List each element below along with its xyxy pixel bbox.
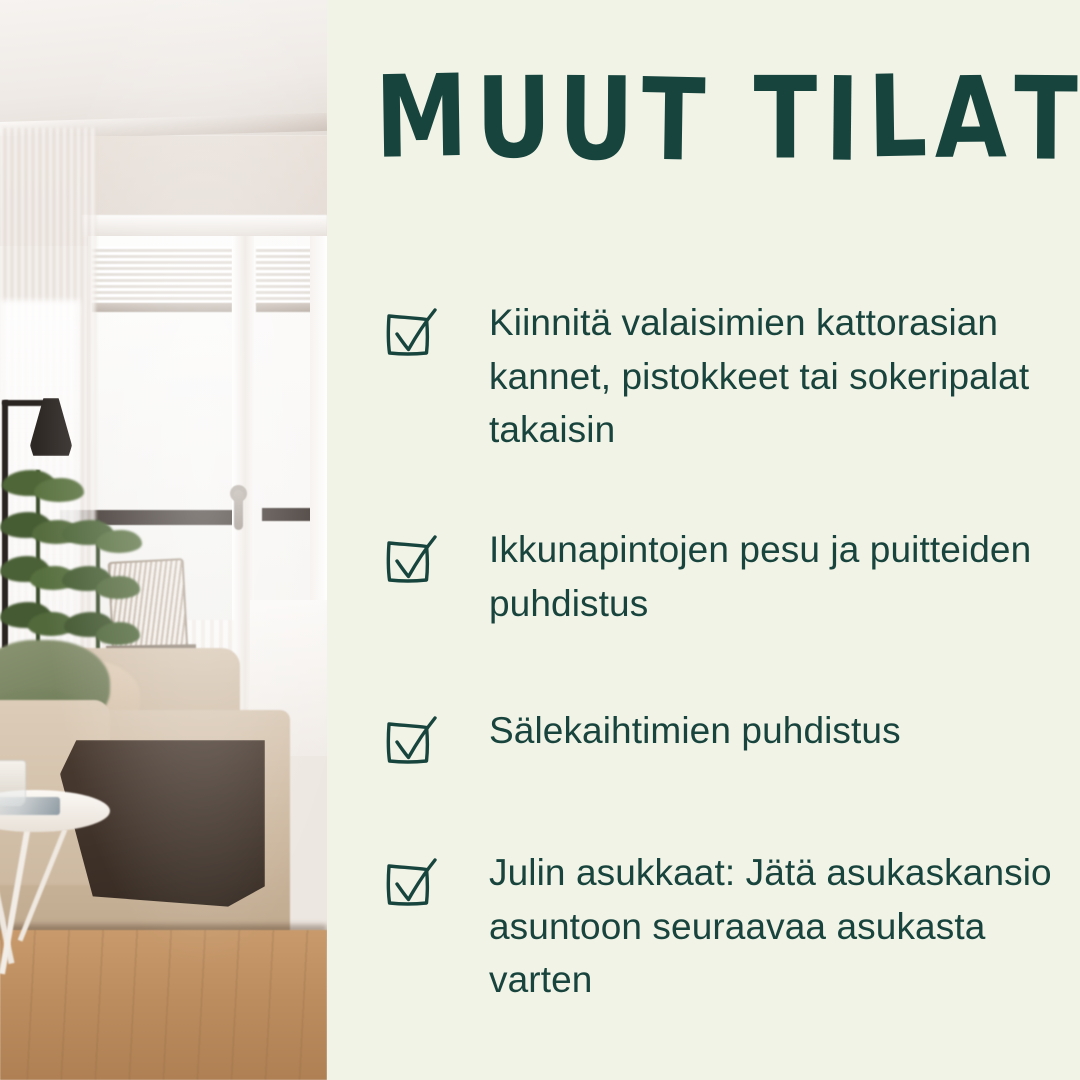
checked-box-icon[interactable]: [379, 529, 441, 591]
list-item[interactable]: Ikkunapintojen pesu ja puitteiden puhdis…: [379, 523, 1079, 630]
checklist-graphic: MUUT TILAT Kiinnitä valaisimien kattoras…: [0, 0, 1080, 1080]
checked-box-icon[interactable]: [379, 302, 441, 364]
list-item-label: Kiinnitä valaisimien kattorasian kannet,…: [489, 296, 1079, 457]
checked-box-icon[interactable]: [379, 852, 441, 914]
content-panel: MUUT TILAT Kiinnitä valaisimien kattoras…: [327, 0, 1080, 1080]
list-item[interactable]: Kiinnitä valaisimien kattorasian kannet,…: [379, 296, 1079, 457]
page-title: MUUT TILAT: [375, 62, 1080, 175]
list-item[interactable]: Sälekaihtimien puhdistus: [379, 704, 1079, 772]
interior-photo: [0, 0, 327, 1080]
checklist: Kiinnitä valaisimien kattorasian kannet,…: [379, 296, 1079, 1007]
photo-light-glow: [0, 0, 327, 1080]
list-item-label: Julin asukkaat: Jätä asukaskansio asunto…: [489, 846, 1079, 1007]
list-item-label: Ikkunapintojen pesu ja puitteiden puhdis…: [489, 523, 1079, 630]
list-item[interactable]: Julin asukkaat: Jätä asukaskansio asunto…: [379, 846, 1079, 1007]
list-item-label: Sälekaihtimien puhdistus: [489, 704, 901, 758]
checked-box-icon[interactable]: [379, 710, 441, 772]
